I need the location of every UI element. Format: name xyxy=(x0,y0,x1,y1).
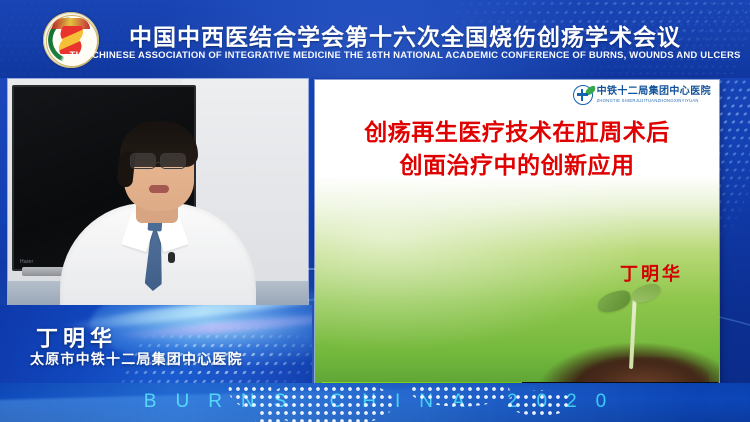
conference-title-en: THE CHINESE ASSOCIATION OF INTEGRATIVE M… xyxy=(0,50,750,61)
slide-title-line-2: 创面治疗中的创新应用 xyxy=(315,149,719,182)
hospital-logo: 中铁十二局集团中心医院 ZHONGTIE SHIERJUJITUANZHONGX… xyxy=(573,84,711,106)
medical-cross-leaf-icon xyxy=(573,85,593,105)
hospital-name-pinyin: ZHONGTIE SHIERJUJITUANZHONGXINYIYUAN xyxy=(597,99,711,103)
conference-header-banner: 中国中西医结合学会第十六次全国烧伤创疡学术会议 THE CHINESE ASSO… xyxy=(0,0,750,78)
speaker-video-feed[interactable]: Haier xyxy=(8,79,308,307)
leaf-icon xyxy=(584,85,597,96)
caption-speaker-organization: 太原市中铁十二局集团中心医院 xyxy=(30,349,243,369)
monitor-brand-label: Haier xyxy=(20,259,33,265)
speaker-mouth xyxy=(149,185,169,193)
hospital-name-cn: 中铁十二局集团中心医院 xyxy=(597,87,711,97)
slide-soil-mound-front xyxy=(579,357,709,383)
speaker-glasses-bridge xyxy=(153,162,161,163)
slide-title: 创疡再生医疗技术在肛周术后 创面治疗中的创新应用 xyxy=(315,116,719,183)
event-footer-text: BURNS CHINA 2020 xyxy=(0,391,750,413)
slide-speaker-name: 丁明华 xyxy=(620,260,683,286)
conference-title-cn: 中国中西医结合学会第十六次全国烧伤创疡学术会议 xyxy=(0,18,750,52)
slide-title-line-1: 创疡再生医疗技术在肛周术后 xyxy=(315,116,719,149)
speaker-glasses-right-lens xyxy=(160,153,186,169)
conference-broadcast-screen: 中国中西医结合学会第十六次全国烧伤创疡学术会议 THE CHINESE ASSO… xyxy=(0,0,750,422)
lapel-microphone-icon xyxy=(168,252,175,263)
presentation-slide[interactable]: 中铁十二局集团中心医院 ZHONGTIE SHIERJUJITUANZHONGX… xyxy=(315,80,719,383)
speaker-name-caption: 丁明华 太原市中铁十二局集团中心医院 xyxy=(0,305,312,383)
event-footer-banner: BURNS CHINA 2020 xyxy=(0,383,750,422)
